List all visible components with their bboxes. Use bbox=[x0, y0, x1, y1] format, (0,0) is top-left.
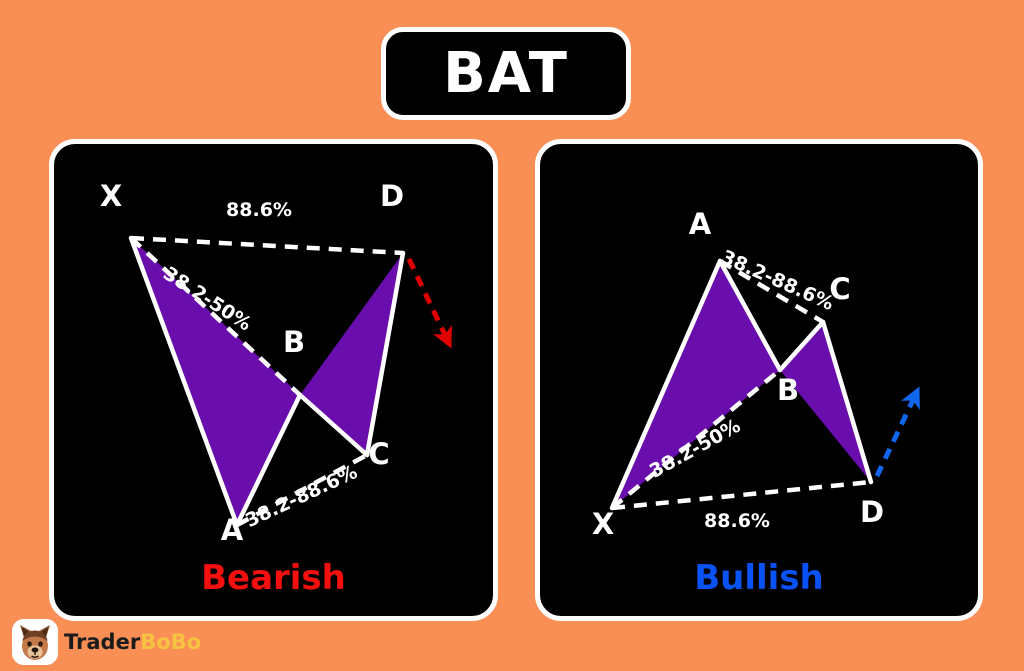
bullish-pattern-chart: 38.2-88.6%38.2-50%88.6%XABCD bbox=[540, 144, 978, 616]
dog-face-icon bbox=[12, 619, 58, 665]
watermark-text: TraderBoBo bbox=[64, 632, 201, 653]
vertex-label-a: A bbox=[689, 207, 712, 241]
projection-arrow bbox=[877, 400, 913, 476]
page-title: BAT bbox=[443, 46, 569, 102]
bearish-pattern-chart: 88.6%38.2-50%38.2-88.6%XABCD bbox=[54, 144, 493, 616]
vertex-label-x: X bbox=[592, 507, 614, 541]
ratio-label-xd: 88.6% bbox=[704, 510, 770, 532]
ratio-line-xd bbox=[612, 482, 871, 508]
pattern-shaded-triangle bbox=[300, 253, 403, 455]
vertex-label-c: C bbox=[829, 272, 850, 306]
pattern-shaded-triangle bbox=[131, 238, 300, 525]
vertex-label-d: D bbox=[860, 495, 884, 529]
dog-avatar-icon bbox=[12, 619, 58, 665]
vertex-label-b: B bbox=[777, 373, 799, 407]
vertex-label-x: X bbox=[100, 179, 122, 213]
caption-bullish: Bullish bbox=[540, 558, 978, 598]
panel-bearish: 88.6%38.2-50%38.2-88.6%XABCD Bearish bbox=[49, 139, 498, 621]
watermark-brand-first: Trader bbox=[64, 630, 140, 654]
caption-bearish: Bearish bbox=[54, 558, 493, 598]
vertex-label-c: C bbox=[368, 437, 389, 471]
ratio-label-xd: 88.6% bbox=[226, 199, 292, 221]
vertex-label-a: A bbox=[221, 513, 244, 547]
pattern-shaded-triangle bbox=[612, 261, 780, 508]
watermark-logo: TraderBoBo bbox=[12, 617, 201, 667]
pattern-title-badge: BAT bbox=[381, 27, 631, 120]
diagram-stage: BAT 88.6%38.2-50%38.2-88.6%XABCD Bearish… bbox=[0, 0, 1024, 671]
vertex-label-b: B bbox=[283, 325, 305, 359]
ratio-line-xd bbox=[131, 238, 403, 253]
projection-arrow bbox=[409, 259, 445, 335]
panel-bullish: 38.2-88.6%38.2-50%88.6%XABCD Bullish bbox=[535, 139, 983, 621]
watermark-brand-second: BoBo bbox=[140, 630, 201, 654]
vertex-label-d: D bbox=[380, 179, 404, 213]
